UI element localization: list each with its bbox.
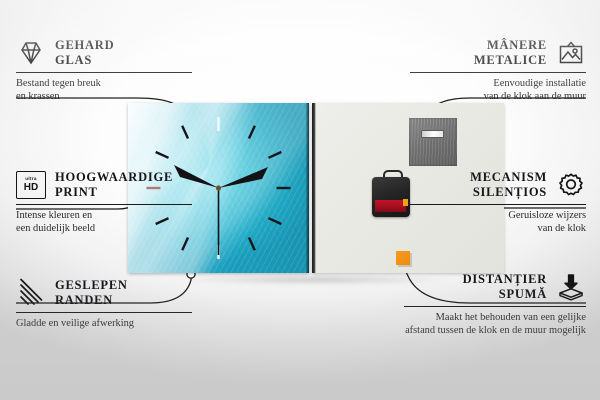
gear-icon [556,170,586,200]
feature-title: HOOGWAARDIGE PRINT [55,170,173,201]
feature-manere-metalice: MÂNERE METALICE Eenvoudige installatie v… [410,38,586,104]
feature-mecanism-silentios: MECANISM SILENȚIOS Geruisloze wijzers va… [410,170,586,236]
feature-title: GESLEPEN RANDEN [55,278,128,309]
feature-description: Gladde en veilige afwerking [16,317,192,331]
feature-divider [16,204,192,205]
feature-distantier-spuma: DISTANȚIER SPUMĂ Maakt het behouden van … [404,272,586,338]
diamond-icon [16,38,46,68]
feature-description: Maakt het behouden van een gelijke afsta… [390,311,586,339]
metal-hanger-plate [409,118,457,166]
feature-geslepen-randen: GESLEPEN RANDEN Gladde en veilige afwerk… [16,278,192,330]
diagonal-lines-icon [16,278,46,308]
feature-divider [410,72,586,73]
feature-description: Eenvoudige installatie van de klok aan d… [410,77,586,105]
feature-gehard-glas: GEHARD GLAS Bestand tegen breuk en krass… [16,38,192,104]
feature-description: Intense kleuren en een duidelijk beeld [16,209,192,237]
ultra-hd-large-label: HD [24,183,38,193]
feature-divider [410,204,586,205]
back-panel-left-edge [312,103,316,273]
feature-description: Geruisloze wijzers van de klok [410,209,586,237]
minute-hand [219,167,269,188]
infographic-canvas: GEHARD GLAS Bestand tegen breuk en krass… [0,0,600,400]
feature-description: Bestand tegen breuk en krassen [16,77,192,105]
feature-divider [16,72,192,73]
foam-spacer [396,251,410,265]
feature-title: GEHARD GLAS [55,38,114,69]
feature-divider [16,312,192,313]
battery [375,200,406,212]
feature-hoogwaardige-print: ultra HD HOOGWAARDIGE PRINT Intense kleu… [16,170,192,236]
hanger-slot [421,130,444,138]
clock-center-cap [216,185,221,190]
wall-hanging-frame-icon [556,38,586,68]
arrow-onto-layers-icon [556,272,586,302]
battery-terminal [403,199,408,206]
feature-title: DISTANȚIER SPUMĂ [463,272,547,303]
ultra-hd-icon: ultra HD [16,170,46,200]
feature-title: MÂNERE METALICE [474,38,547,69]
feature-divider [404,306,586,307]
feature-title: MECANISM SILENȚIOS [470,170,547,201]
